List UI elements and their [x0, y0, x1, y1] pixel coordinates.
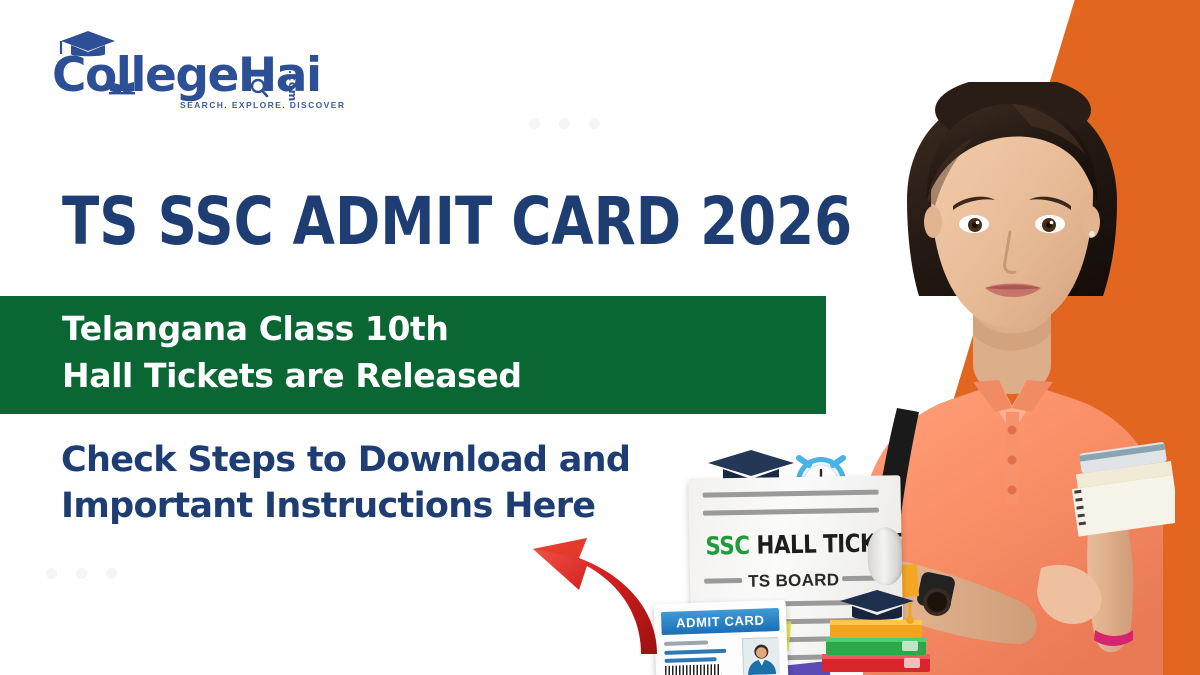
subheading-line-1: Check Steps to Download and	[61, 438, 630, 484]
graduation-cap-front-icon	[838, 588, 916, 624]
logo-wordmark: CollegeHai .com	[52, 52, 345, 99]
subheading: Check Steps to Download and Important In…	[61, 438, 630, 530]
collegehai-logo[interactable]: CollegeHai .com SEARCH. EXPLORE. DISCOVE…	[52, 52, 345, 110]
green-band-line-2: Hall Tickets are Released	[62, 353, 522, 400]
banner-canvas: CollegeHai .com SEARCH. EXPLORE. DISCOVE…	[0, 0, 1200, 675]
admit-card-photo	[742, 637, 779, 674]
hall-ticket-illustration: SSC HALL TICKET TS BOARD	[650, 420, 950, 675]
dot	[529, 118, 540, 129]
admit-card-label: ADMIT CARD	[676, 612, 765, 630]
page-title: TS SSC ADMIT CARD 2026	[62, 189, 852, 255]
decorative-dots-top	[529, 118, 600, 129]
dot	[589, 118, 600, 129]
dot	[559, 118, 570, 129]
logo-dotcom: .com	[286, 70, 299, 102]
open-book-icon	[109, 78, 135, 95]
scroll-line	[703, 508, 879, 516]
red-curved-arrow-icon	[523, 532, 683, 657]
admit-card-line	[665, 657, 717, 663]
barcode	[665, 664, 721, 675]
scroll-roll-edge	[867, 527, 903, 586]
scroll-title-ssc: SSC	[705, 531, 749, 561]
dot	[46, 568, 57, 579]
green-band-text: Telangana Class 10th Hall Tickets are Re…	[62, 306, 522, 400]
dot	[76, 568, 87, 579]
magnifier-icon	[248, 77, 270, 99]
dot	[106, 568, 117, 579]
green-band-line-1: Telangana Class 10th	[62, 306, 522, 353]
logo-word-text: CollegeHai	[52, 52, 321, 99]
scroll-line	[704, 578, 742, 584]
subheading-line-2: Important Instructions Here	[61, 484, 630, 530]
scroll-line	[703, 490, 879, 498]
graduation-cap-icon	[57, 28, 119, 58]
decorative-dots-bottom	[46, 568, 117, 579]
scroll-subtitle: TS BOARD	[748, 570, 840, 592]
